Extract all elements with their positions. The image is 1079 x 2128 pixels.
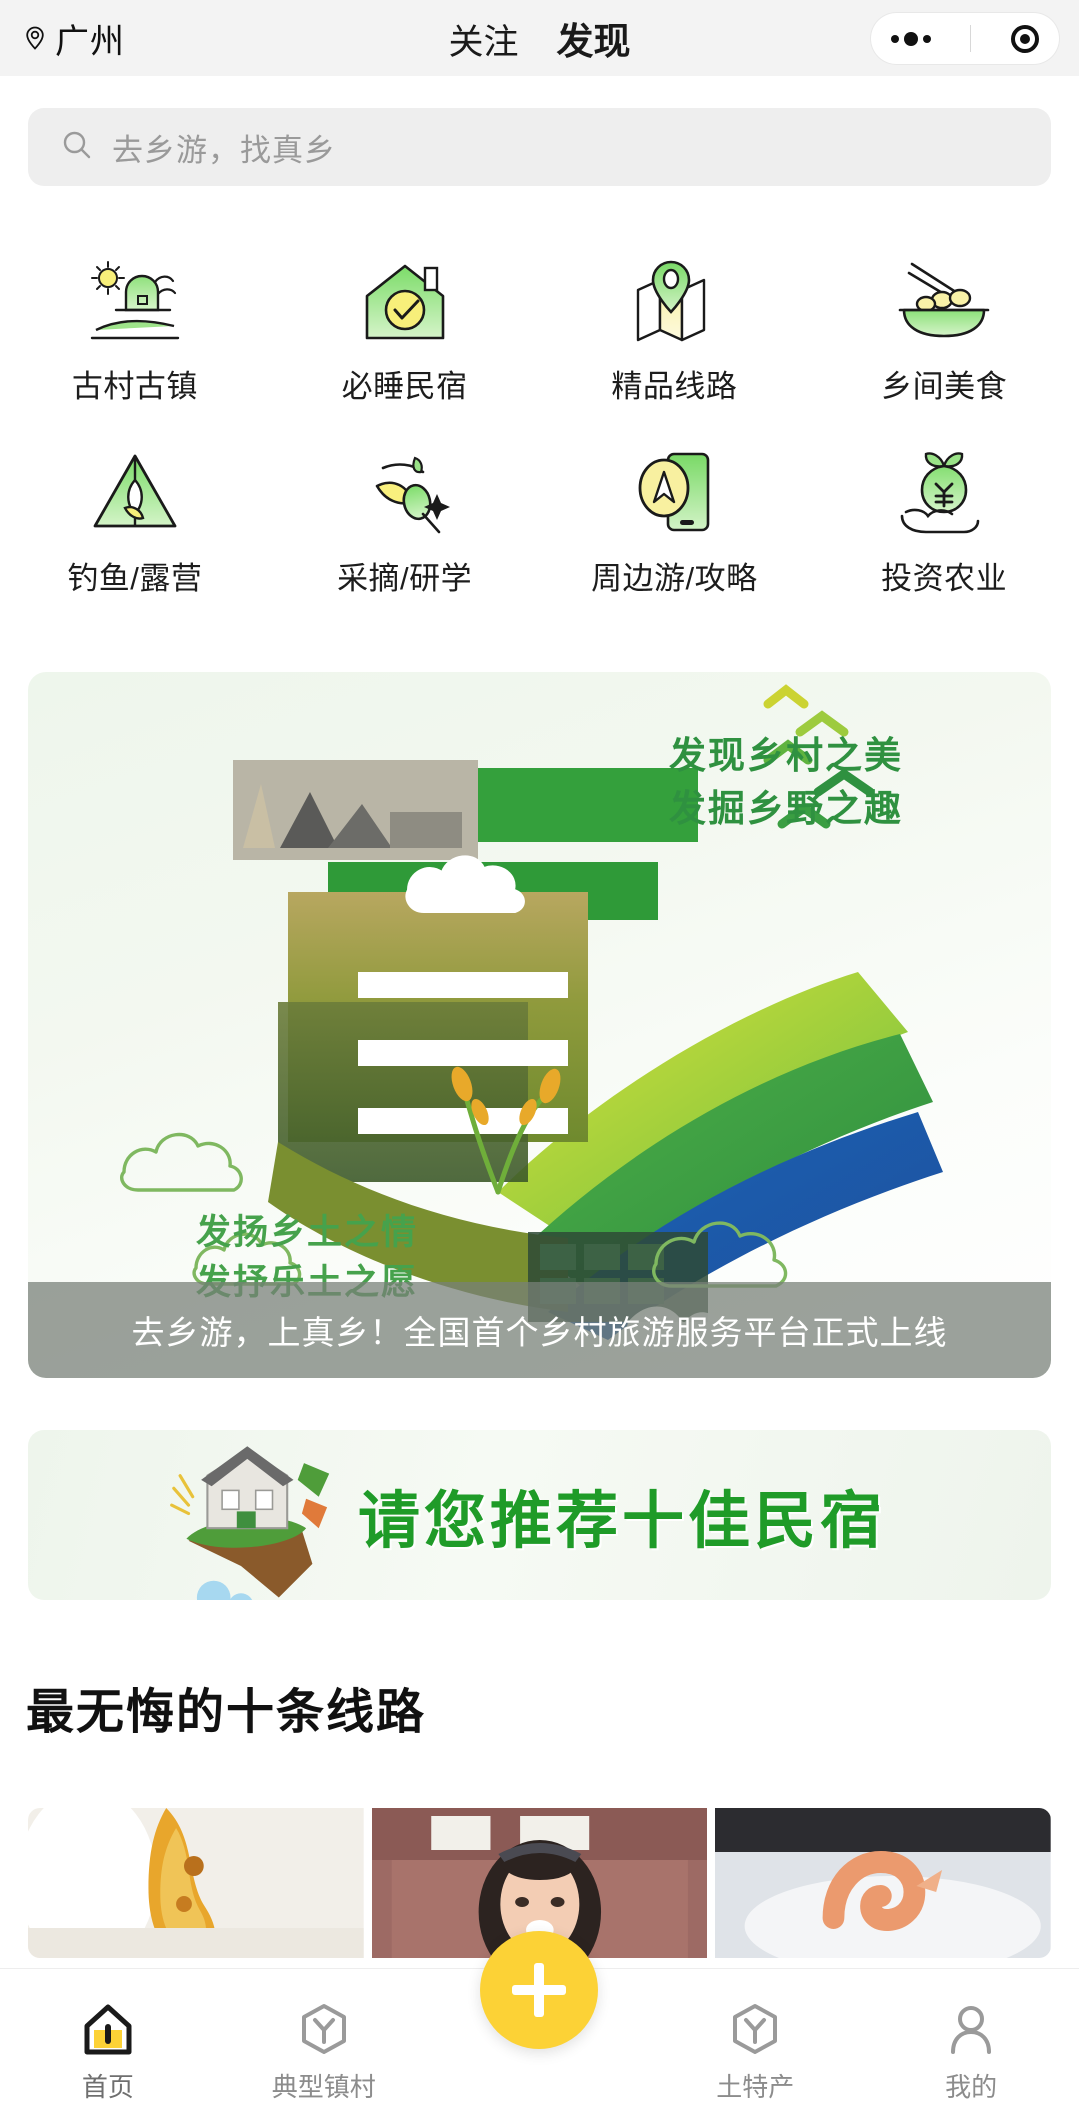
app-root: 广州 关注 发现 去乡游，找真乡	[0, 0, 1079, 2128]
app-header: 广州 关注 发现	[0, 0, 1079, 76]
promo-banner[interactable]: 请您推荐十佳民宿	[28, 1430, 1051, 1600]
tab-publish-slot	[432, 1969, 648, 2128]
banner-footline-line1: 发扬乡土之情	[196, 1208, 418, 1258]
quick-nav-row-1: 古村古镇 必睡民宿	[0, 240, 1079, 432]
house-check-icon	[349, 252, 461, 348]
quick-nav-label: 投资农业	[881, 553, 1007, 598]
header-tabs: 关注 发现	[448, 11, 630, 65]
village-badge-icon	[295, 2000, 353, 2058]
quick-nav-label: 古村古镇	[72, 361, 198, 406]
location-name: 广州	[55, 14, 125, 63]
search-placeholder: 去乡游，找真乡	[112, 125, 336, 170]
target-circle-icon[interactable]	[1011, 25, 1039, 53]
tab-specialty[interactable]: 土特产	[647, 1969, 863, 2128]
quick-nav-grid: 古村古镇 必睡民宿	[0, 240, 1079, 624]
phone-compass-icon	[618, 444, 730, 540]
search-icon	[60, 128, 94, 167]
quick-nav-item-invest[interactable]: 投资农业	[809, 432, 1079, 624]
tab-label: 典型镇村	[272, 2067, 376, 2104]
search-container[interactable]: 去乡游，找真乡	[28, 108, 1051, 186]
quick-nav-item-routes[interactable]: 精品线路	[540, 240, 810, 432]
specialty-badge-icon	[726, 2000, 784, 2058]
section-title: 最无悔的十条线路	[26, 1672, 426, 1742]
tab-mine[interactable]: 我的	[863, 1969, 1079, 2128]
tab-label: 首页	[82, 2067, 134, 2104]
quick-nav-label: 精品线路	[611, 361, 737, 406]
tab-discover[interactable]: 发现	[557, 11, 631, 65]
quick-nav-label: 必睡民宿	[342, 361, 468, 406]
search-bar[interactable]: 去乡游，找真乡	[28, 108, 1051, 186]
card-honey-food[interactable]	[28, 1808, 364, 1958]
banner-headline: 发现乡村之美 发掘乡野之趣	[669, 730, 903, 835]
quick-nav-label: 钓鱼/露营	[67, 553, 202, 598]
quick-nav-label: 采摘/研学	[337, 553, 472, 598]
banner-headline-line2: 发掘乡野之趣	[669, 783, 903, 836]
tab-home[interactable]: 首页	[0, 1969, 216, 2128]
tab-follow[interactable]: 关注	[448, 14, 518, 65]
tab-label: 土特产	[716, 2067, 794, 2104]
money-sprout-hand-icon	[888, 444, 1000, 540]
quick-nav-item-camping[interactable]: 钓鱼/露营	[0, 432, 270, 624]
noodle-bowl-icon	[888, 252, 1000, 348]
village-sunrise-icon	[79, 252, 191, 348]
capsule-divider	[970, 25, 971, 52]
card-shrimp-dish[interactable]	[715, 1808, 1051, 1958]
quick-nav-item-guide[interactable]: 周边游/攻略	[540, 432, 810, 624]
quick-nav-label: 乡间美食	[881, 361, 1007, 406]
tent-camp-icon	[79, 444, 191, 540]
banner-caption-bar: 去乡游，上真乡！全国首个乡村旅游服务平台正式上线	[28, 1282, 1051, 1378]
map-pin-route-icon	[618, 252, 730, 348]
user-icon	[942, 2000, 1000, 2058]
quick-nav-row-2: 钓鱼/露营 采摘/研学	[0, 432, 1079, 624]
tab-label: 我的	[945, 2067, 997, 2104]
quick-nav-item-homestay[interactable]: 必睡民宿	[270, 240, 540, 432]
quick-nav-item-picking[interactable]: 采摘/研学	[270, 432, 540, 624]
location-pin-icon	[22, 25, 48, 51]
promo-title: 请您推荐十佳民宿	[358, 1470, 886, 1560]
harvest-sprout-icon	[349, 444, 461, 540]
plus-icon[interactable]	[480, 1931, 598, 2049]
wechat-capsule	[871, 13, 1059, 64]
bottom-tabbar: 首页 典型镇村 土特产	[0, 1968, 1079, 2128]
location-selector[interactable]: 广州	[22, 14, 125, 63]
more-dots-icon[interactable]	[891, 32, 931, 46]
quick-nav-item-village[interactable]: 古村古镇	[0, 240, 270, 432]
hero-banner[interactable]: 发现乡村之美 发掘乡野之趣 发扬乡土之情 发抒乐土之愿 去乡游，上真乡！全国首个…	[28, 672, 1051, 1378]
banner-headline-line1: 发现乡村之美	[669, 730, 903, 783]
tab-village[interactable]: 典型镇村	[216, 1969, 432, 2128]
home-icon	[79, 2000, 137, 2058]
quick-nav-item-food[interactable]: 乡间美食	[809, 240, 1079, 432]
quick-nav-label: 周边游/攻略	[591, 553, 758, 598]
banner-caption: 去乡游，上真乡！全国首个乡村旅游服务平台正式上线	[132, 1306, 948, 1354]
